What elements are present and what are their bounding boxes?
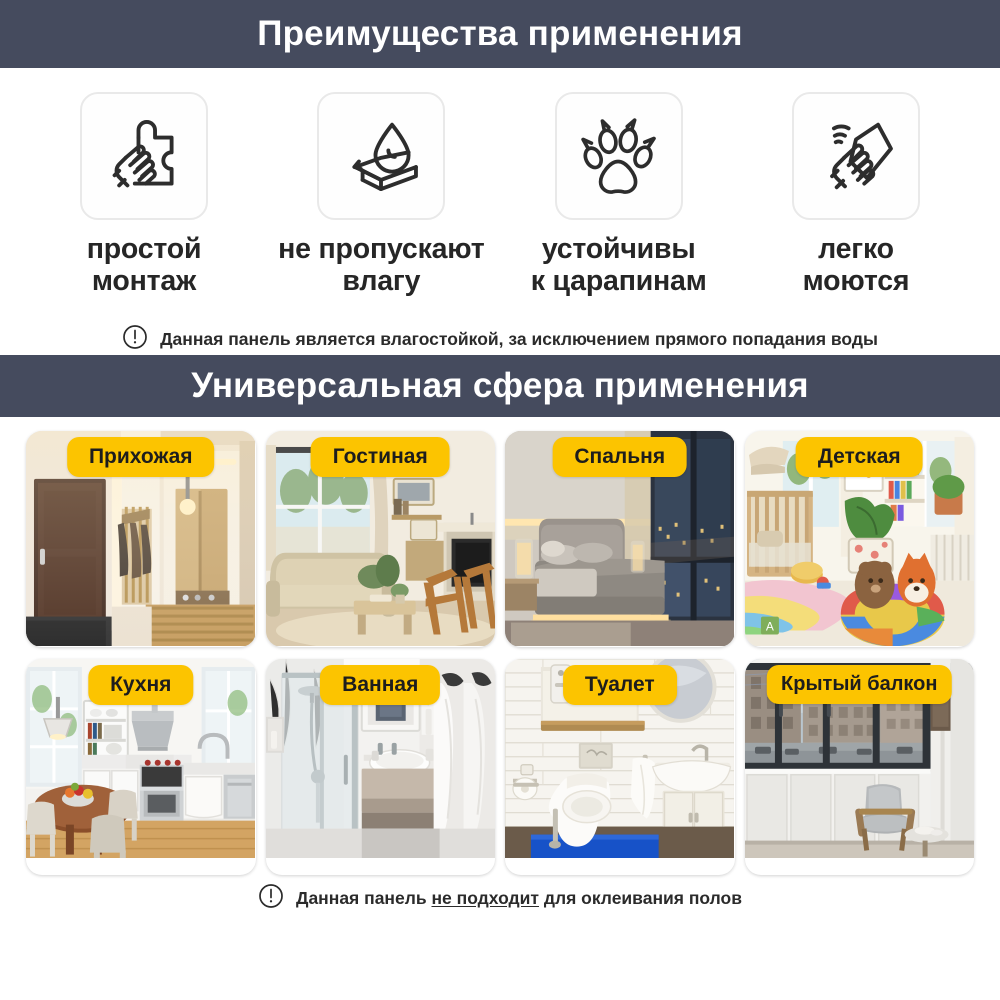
feature-label-line2: к царапинам bbox=[531, 265, 707, 297]
rooms-section: Прихожая bbox=[0, 417, 1000, 1000]
features-section: простой монтаж bbox=[0, 68, 1000, 355]
moisture-note-text: Данная панель является влагостойкой, за … bbox=[160, 329, 878, 350]
feature-label: легко моются bbox=[803, 234, 910, 298]
feature-scratch-resistant: устойчивы к царапинам bbox=[511, 92, 727, 298]
floors-note-suffix: для оклеивания полов bbox=[539, 888, 742, 908]
feature-icon-box bbox=[317, 92, 445, 220]
paw-print-icon bbox=[573, 110, 665, 202]
feature-label-line1: легко bbox=[818, 233, 894, 265]
hand-puzzle-icon bbox=[98, 110, 190, 202]
room-badge-toilet[interactable]: Туалет bbox=[563, 665, 677, 705]
room-badge-bathroom[interactable]: Ванная bbox=[320, 665, 440, 705]
room-card-hallway[interactable]: Прихожая bbox=[26, 431, 256, 647]
feature-icon-box bbox=[80, 92, 208, 220]
feature-label: простой монтаж bbox=[87, 234, 202, 298]
exclamation-circle-icon bbox=[258, 883, 284, 914]
feature-icon-box bbox=[792, 92, 920, 220]
water-drop-layers-icon bbox=[335, 110, 427, 202]
room-card-living-room[interactable]: Гостиная bbox=[266, 431, 496, 647]
room-card-balcony[interactable]: Крытый балкон bbox=[745, 659, 975, 875]
application-banner: Универсальная сфера применения bbox=[0, 355, 1000, 417]
floors-note: Данная панель не подходит для оклеивания… bbox=[26, 883, 974, 914]
room-card-bathroom[interactable]: Ванная bbox=[266, 659, 496, 875]
room-card-kitchen[interactable]: Кухня bbox=[26, 659, 256, 875]
feature-label-line1: не пропускают bbox=[278, 233, 484, 265]
room-badge-hallway[interactable]: Прихожая bbox=[67, 437, 215, 477]
room-card-nursery[interactable]: A Детская bbox=[745, 431, 975, 647]
feature-label: не пропускают влагу bbox=[278, 234, 484, 298]
advantages-title: Преимущества применения bbox=[257, 14, 742, 54]
rooms-grid: Прихожая bbox=[26, 431, 974, 875]
floors-note-text: Данная панель не подходит для оклеивания… bbox=[296, 888, 742, 909]
advantages-banner: Преимущества применения bbox=[0, 0, 1000, 68]
infographic-page: Преимущества применения bbox=[0, 0, 1000, 1000]
hand-wiping-cloth-icon bbox=[810, 110, 902, 202]
feature-waterproof: не пропускают влагу bbox=[273, 92, 489, 298]
feature-label: устойчивы к царапинам bbox=[531, 234, 707, 298]
svg-text:A: A bbox=[765, 619, 773, 633]
application-title: Универсальная сфера применения bbox=[191, 366, 809, 406]
feature-easy-install: простой монтаж bbox=[36, 92, 252, 298]
room-badge-nursery[interactable]: Детская bbox=[796, 437, 923, 477]
feature-label-line2: влагу bbox=[342, 265, 420, 297]
feature-label-line2: моются bbox=[803, 265, 910, 297]
room-badge-balcony[interactable]: Крытый балкон bbox=[767, 665, 951, 704]
feature-easy-clean: легко моются bbox=[748, 92, 964, 298]
room-card-toilet[interactable]: Туалет bbox=[505, 659, 735, 875]
feature-label-line1: устойчивы bbox=[542, 233, 696, 265]
moisture-note: Данная панель является влагостойкой, за … bbox=[0, 324, 1000, 355]
feature-icon-box bbox=[555, 92, 683, 220]
room-card-bedroom[interactable]: Спальня bbox=[505, 431, 735, 647]
feature-label-line1: простой bbox=[87, 233, 202, 265]
room-badge-living-room[interactable]: Гостиная bbox=[311, 437, 450, 477]
room-badge-kitchen[interactable]: Кухня bbox=[88, 665, 193, 705]
feature-label-line2: монтаж bbox=[92, 265, 196, 297]
floors-note-emphasis: не подходит bbox=[431, 888, 539, 908]
exclamation-circle-icon bbox=[122, 324, 148, 355]
floors-note-prefix: Данная панель bbox=[296, 888, 432, 908]
features-row: простой монтаж bbox=[0, 68, 1000, 298]
room-badge-bedroom[interactable]: Спальня bbox=[552, 437, 687, 477]
